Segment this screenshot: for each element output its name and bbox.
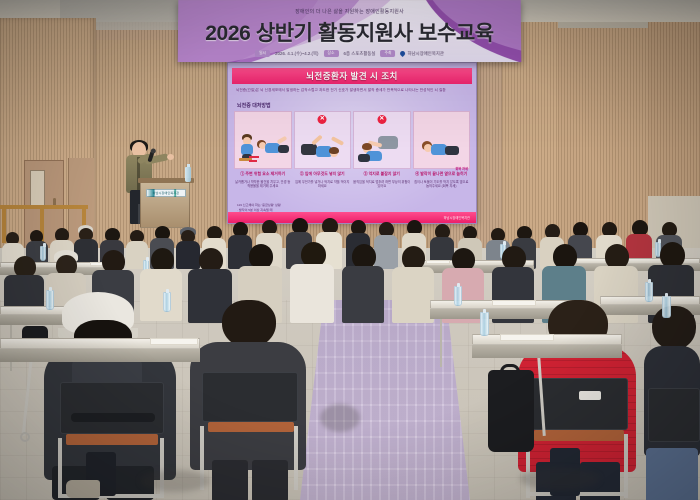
banner-meta-1-value: 6층 스포츠활동실 (344, 51, 376, 57)
x-mark-icon: ✕ (318, 115, 327, 124)
caption-4-heading: ④ 발작이 끝나면 옆으로 눕히기 (413, 171, 471, 177)
caption-3-heading: ③ 억지로 붙잡지 않기 (353, 171, 411, 177)
chair-handle (71, 413, 155, 422)
caption-2-body: 입에 무언가를 넣거나 억지로 약을 먹이지 마세요 (294, 180, 352, 190)
folding-chair-seat[interactable] (66, 434, 158, 445)
floor-shadow (520, 468, 600, 490)
caption-3-body: 움직임을 억지로 멈추려 하면 부상의 위험이 있어요 (353, 180, 411, 190)
attendee-mid-9 (392, 246, 434, 322)
water-bottle[interactable] (480, 312, 489, 336)
attendee-jeans (646, 448, 698, 500)
banner-host-logo: 하남시장애인복지관 (401, 51, 444, 57)
folding-chair-back[interactable] (648, 388, 700, 442)
chair-leg (58, 438, 62, 498)
folding-chair-seat[interactable] (208, 422, 294, 432)
floor-shadow (320, 404, 360, 432)
attendee-mid-8 (342, 244, 384, 322)
attendee-trousers (212, 460, 248, 500)
chair-label (579, 391, 601, 400)
lecture-hall-photo: 뇌전증환자 발견 시 조치 뇌전증(간질)은 뇌 신경세포에서 발생하는 갑작스… (0, 0, 700, 500)
cartoon-person-lying (257, 138, 289, 160)
chair-caster (20, 432, 30, 442)
wall-panel-right-3 (648, 22, 700, 197)
center-aisle-projection (300, 300, 470, 500)
podium-sign: 하남시장애인복지관 (146, 189, 186, 197)
handout-paper[interactable] (500, 334, 554, 341)
floor-shadow (140, 470, 210, 492)
folding-chair-back[interactable] (202, 372, 298, 422)
cartoon-recovery-position (422, 140, 460, 162)
water-bottle[interactable] (662, 296, 671, 318)
caption-2-heading: ② 입에 아무것도 넣지 않기 (294, 171, 352, 177)
wall-panel-right-2 (558, 28, 648, 250)
water-bottle[interactable] (454, 286, 462, 306)
caption-4: ④ 발작이 끝나면 옆으로 눕히기 침이나 토물이 기도를 막지 않도록 옆으로… (413, 171, 471, 203)
slide-caption-row: ① 주변 위험 요소 제거하기 날카롭거나 딱딱한 물건을 치우고, 안경 등 … (234, 171, 470, 203)
banner-meta-row: 일시 2026. 4.1.(수)~4.2.(목) 장소 6층 스포츠활동실 주최… (178, 50, 521, 57)
hanging-backpack[interactable] (488, 370, 534, 452)
cartoon-arrow (249, 156, 259, 158)
backpack-strap (500, 364, 520, 376)
desk-front-right-apron (472, 345, 622, 358)
podium-water-bottle (185, 167, 191, 182)
caption-1-heading: ① 주변 위험 요소 제거하기 (234, 171, 292, 177)
illustration-panel-1 (234, 111, 292, 169)
handout-paper[interactable] (150, 338, 198, 345)
banner-meta-0-tag: 일시 (255, 50, 270, 57)
illustration-panel-3: ✕ (353, 111, 411, 169)
folding-chair-back[interactable] (60, 382, 164, 434)
folding-chair-seat[interactable] (534, 430, 624, 441)
desk-leg (440, 319, 442, 367)
water-bottle[interactable] (645, 282, 653, 302)
cartoon-restraining-wrong (301, 138, 345, 164)
caption-1-body: 날카롭거나 딱딱한 물건을 치우고, 안경 등 착용물을 제거해 주세요 (234, 180, 292, 190)
banner-title: 2026 상반기 활동지원사 보수교육 (178, 17, 521, 47)
stair-railing (0, 205, 88, 209)
slide-title: 뇌전증환자 발견 시 조치 (232, 68, 472, 84)
slide-footer-credit: 하남시장애인복지관 (444, 215, 470, 220)
attendee-shoe (66, 480, 100, 498)
cartoon-arrow (249, 160, 257, 162)
caption-3: ③ 억지로 붙잡지 않기 움직임을 억지로 멈추려 하면 부상의 위험이 있어요 (353, 171, 411, 203)
caption-4-body: 침이나 토물이 기도를 막지 않도록 옆으로 눕혀주세요 (회복 자세) (413, 180, 471, 190)
banner-subtitle: 장애인의 더 나은 삶을 지원하는 장애인활동지원사 (178, 8, 521, 15)
illustration-panel-2: ✕ (294, 111, 352, 169)
speaker-hand (167, 154, 174, 160)
slide-subheading: 뇌전증 대처방법 (237, 102, 271, 109)
desk-front-left-apron (0, 349, 200, 362)
banner-meta-0-value: 2026. 4.1.(수)~4.2.(목) (275, 51, 318, 57)
slide-illustration-row: ✕ ✕ (234, 111, 470, 169)
attendee-trousers (252, 460, 288, 500)
banner-meta-2-value: 하남시장애인복지관 (408, 51, 444, 57)
logo-mark-icon (399, 50, 406, 57)
illustration-panel-4 (413, 111, 471, 169)
x-mark-icon: ✕ (377, 115, 386, 124)
event-banner: 장애인의 더 나은 삶을 지원하는 장애인활동지원사 2026 상반기 활동지원… (178, 0, 522, 62)
projection-screen: 뇌전증환자 발견 시 조치 뇌전증(간질)은 뇌 신경세포에서 발생하는 갑작스… (227, 62, 477, 224)
podium: 하남시장애인복지관 (140, 180, 190, 228)
caption-1: ① 주변 위험 요소 제거하기 날카롭거나 딱딱한 물건을 치우고, 안경 등 … (234, 171, 292, 203)
door-window (30, 170, 45, 208)
banner-meta-1-tag: 장소 (323, 50, 338, 57)
banner-meta-2-tag: 주최 (381, 50, 396, 57)
slide-lead-text: 뇌전증(간질)은 뇌 신경세포에서 발생하는 갑작스럽고 과도한 전기 신호가 … (236, 88, 468, 93)
caption-2: ② 입에 아무것도 넣지 않기 입에 무언가를 넣거나 억지로 약을 먹이지 마… (294, 171, 352, 203)
cartoon-holding-down-wrong (358, 136, 404, 164)
chair-leg (294, 426, 298, 490)
chair-leg (624, 434, 628, 498)
